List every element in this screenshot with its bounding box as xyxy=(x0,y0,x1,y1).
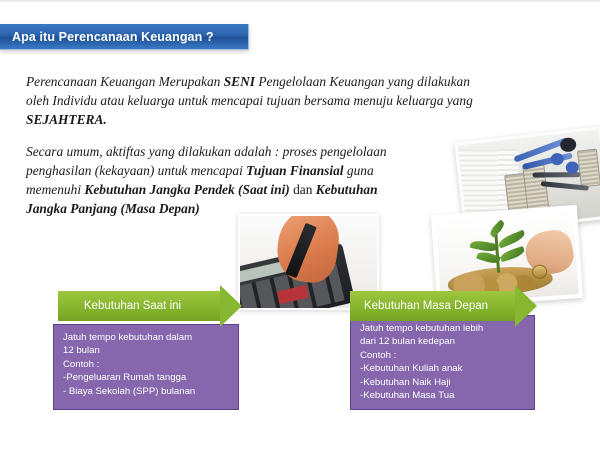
box-line: -Kebutuhan Naik Haji xyxy=(360,376,525,389)
paragraph-2-segment-3: dan xyxy=(290,182,316,197)
arrow-banner-kebutuhan-masa-depan: Kebutuhan Masa Depan xyxy=(350,291,516,321)
paragraph-2-bold-2: Kebutuhan Jangka Pendek (Saat ini) xyxy=(84,182,289,197)
box-line: - Biaya Sekolah (SPP) bulanan xyxy=(63,385,229,398)
arrow-banner-kebutuhan-saat-ini: Kebutuhan Saat ini xyxy=(58,291,221,321)
coin-stack xyxy=(577,149,600,188)
presentation-slide: Apa itu Perencanaan Keuangan ? Perencana… xyxy=(0,0,600,449)
box-line: 12 bulan xyxy=(63,344,229,357)
coin-icon xyxy=(532,264,547,279)
paragraph-2-bold-1: Tujuan Finansial xyxy=(246,163,343,178)
slide-title-banner: Apa itu Perencanaan Keuangan ? xyxy=(0,24,249,50)
box-line: dari 12 bulan kedepan xyxy=(360,335,525,348)
page-title: Apa itu Perencanaan Keuangan ? xyxy=(0,30,214,44)
arrow-banner-label: Kebutuhan Masa Depan xyxy=(350,300,516,312)
body-paragraph-1: Perencanaan Keuangan Merupakan SENI Peng… xyxy=(26,72,486,129)
arrow-banner-label: Kebutuhan Saat ini xyxy=(58,300,221,312)
box-line: -Kebutuhan Masa Tua xyxy=(360,389,525,402)
box-line: Jatuh tempo kebutuhan lebih xyxy=(360,322,525,335)
paragraph-1-bold-1: SENI xyxy=(224,74,255,89)
paragraph-1-bold-2: SEJAHTERA. xyxy=(26,112,107,127)
box-line: -Pengeluaran Rumah tangga xyxy=(63,371,229,384)
content-box-kebutuhan-masa-depan: Jatuh tempo kebutuhan lebih dari 12 bula… xyxy=(350,315,535,410)
box-line: Contoh : xyxy=(63,358,229,371)
box-line: Contoh : xyxy=(360,349,525,362)
paragraph-1-segment-1: Perencanaan Keuangan Merupakan xyxy=(26,74,224,89)
content-box-kebutuhan-saat-ini: Jatuh tempo kebutuhan dalam 12 bulan Con… xyxy=(53,324,239,410)
body-paragraph-2: Secara umum, aktiftas yang dilakukan ada… xyxy=(26,142,421,218)
box-line: Jatuh tempo kebutuhan dalam xyxy=(63,331,229,344)
box-line: -Kebutuhan Kuliah anak xyxy=(360,362,525,375)
